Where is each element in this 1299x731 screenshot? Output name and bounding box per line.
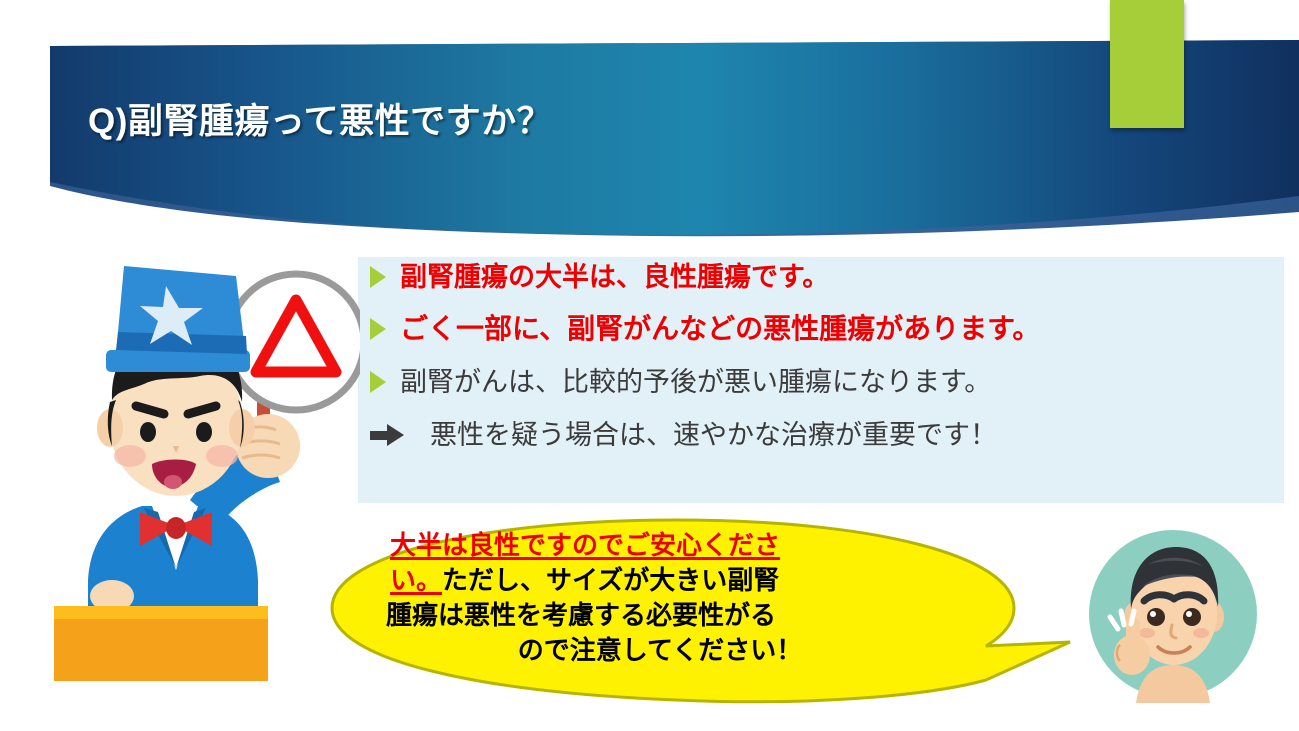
bullet-text: 副腎がんは、比較的予後が悪い腫瘍になります。: [400, 365, 991, 399]
slide-canvas: Q)副腎腫瘍って悪性ですか？: [0, 0, 1299, 731]
list-item: 副腎腫瘍の大半は、良性腫瘍です。: [370, 260, 829, 294]
bullet-list: 副腎腫瘍の大半は、良性腫瘍です。 ごく一部に、副腎がんなどの悪性腫瘍があります。…: [358, 257, 1284, 503]
speech-bubble-text: 大半は良性ですのでご安心くださ い。ただし、サイズが大きい副腎 腫瘍は悪性を考慮…: [360, 528, 980, 668]
speech-bubble: 大半は良性ですのでご安心くださ い。ただし、サイズが大きい副腎 腫瘍は悪性を考慮…: [326, 510, 1086, 710]
content-panel: 副腎腫瘍の大半は、良性腫瘍です。 ごく一部に、副腎がんなどの悪性腫瘍があります。…: [358, 257, 1284, 503]
bubble-line-1-rest: ただし、サイズが大きい副腎: [442, 565, 779, 595]
hat-icon: [106, 266, 250, 372]
quiz-host-illustration: [40, 250, 360, 690]
bubble-highlight-tail: い。: [390, 565, 442, 595]
bubble-highlight-line: 大半は良性ですのでご安心くださ: [390, 530, 780, 560]
page-title: Q)副腎腫瘍って悪性ですか？: [88, 93, 552, 144]
green-accent-bar: [1110, 0, 1184, 128]
bubble-line-3: ので注意してください！: [360, 633, 980, 668]
list-item: ごく一部に、副腎がんなどの悪性腫瘍があります。: [370, 312, 1040, 346]
triangle-bullet-icon: [370, 266, 386, 288]
triangle-bullet-icon: [370, 318, 386, 340]
podium: [54, 606, 268, 681]
list-item: 悪性を疑う場合は、速やかな治療が重要です！: [370, 418, 997, 452]
bullet-text: 副腎腫瘍の大半は、良性腫瘍です。: [400, 260, 829, 294]
list-item: 副腎がんは、比較的予後が悪い腫瘍になります。: [370, 365, 991, 399]
bubble-line-2: 腫瘍は悪性を考慮する必要性がる: [360, 598, 980, 633]
bullet-text: 悪性を疑う場合は、速やかな治療が重要です！: [430, 418, 997, 452]
triangle-bullet-icon: [370, 371, 386, 393]
header-band: Q)副腎腫瘍って悪性ですか？: [0, 0, 1299, 250]
doctor-avatar: [1084, 525, 1262, 703]
bullet-text: ごく一部に、副腎がんなどの悪性腫瘍があります。: [400, 312, 1040, 346]
arrow-bullet-icon: [370, 424, 404, 446]
